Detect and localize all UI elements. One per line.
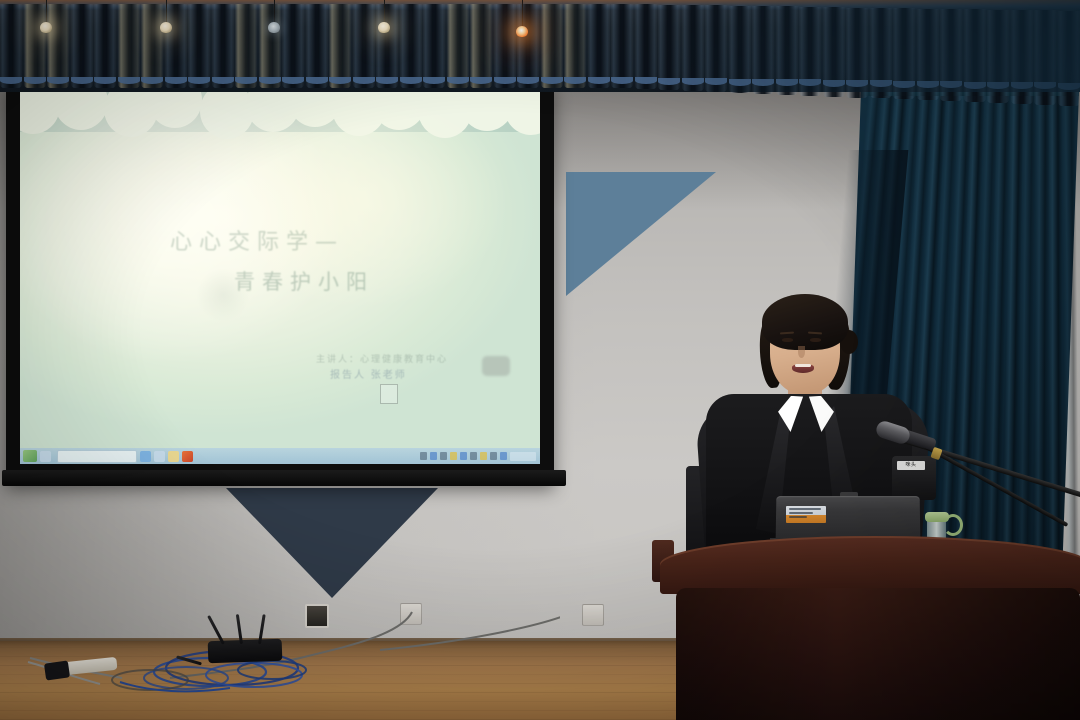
slide-placeholder-icon	[380, 384, 398, 404]
task-view-icon[interactable]	[40, 451, 51, 462]
valance-pleat-tip	[564, 77, 586, 84]
eye-right	[810, 338, 821, 342]
pendant-bulb-2	[160, 22, 172, 33]
valance-pleat	[212, 4, 234, 88]
valance-pleat	[165, 4, 187, 88]
valance-pleat-tip	[212, 77, 234, 84]
valance-pleat	[470, 4, 492, 88]
valance-pleat-tip	[24, 77, 46, 84]
pendant-bulb-4	[378, 22, 390, 33]
valance-pleat-tip	[400, 77, 422, 84]
valance-pleat-tip	[353, 77, 375, 84]
valance-pleat	[400, 4, 422, 88]
valance-pleat-tip	[118, 77, 140, 84]
pendant-bulb-1	[40, 22, 52, 33]
valance-pleat	[0, 4, 22, 88]
valance-pleat	[94, 4, 116, 88]
valance-pleat-tip	[541, 77, 563, 84]
valance-pleat	[188, 4, 210, 88]
scallop-bite	[148, 90, 202, 128]
pendant-bulb-2-wire	[166, 0, 167, 24]
teeth	[795, 364, 811, 367]
asset-tag-sticker	[786, 506, 826, 523]
valance-pleat-tip	[329, 77, 351, 84]
valance-pleat-tip	[94, 77, 116, 84]
pendant-bulb-4-wire	[384, 0, 385, 24]
lectern-top	[660, 536, 1080, 594]
search-box[interactable]	[57, 450, 137, 463]
valance-pleat	[447, 4, 469, 88]
tray-icon[interactable]	[470, 452, 477, 460]
tray-icon[interactable]	[480, 452, 487, 460]
valance-pleat-tip	[235, 77, 257, 84]
microphone-label: 咪头	[897, 461, 925, 470]
valance-pleat	[329, 4, 351, 88]
nose	[798, 346, 805, 358]
scallop-bite	[54, 90, 108, 130]
valance-shadow-band	[20, 90, 540, 132]
lectern-shading	[676, 588, 1080, 720]
valance-pleat-tip	[47, 77, 69, 84]
valance-pleat-tip	[71, 77, 93, 84]
valance-pleat-tip	[470, 77, 492, 84]
valance-pleat	[611, 4, 633, 88]
eye-left	[782, 338, 793, 342]
sticker-text-line	[789, 516, 807, 518]
valance-pleat	[588, 4, 610, 88]
tray-icon[interactable]	[420, 452, 427, 460]
lecture-hall-photo: 心心交际学— 青春护小阳 主讲人：心理健康教育中心 报告人 张老师	[0, 0, 1080, 720]
projection-screen[interactable]: 心心交际学— 青春护小阳 主讲人：心理健康教育中心 报告人 张老师	[20, 90, 540, 464]
valance-pleat-tip	[588, 77, 610, 84]
valance-pleat-tip	[141, 77, 163, 84]
system-tray[interactable]	[420, 452, 540, 461]
pendant-bulb-1-wire	[46, 0, 47, 24]
valance-right-shadow	[660, 0, 1080, 92]
pendant-bulb-5-wire	[522, 0, 523, 28]
slide-byline: 主讲人：心理健康教育中心	[316, 352, 448, 365]
valance-pleat	[423, 4, 445, 88]
folder-icon[interactable]	[168, 451, 179, 462]
valance-pleat-tip	[282, 77, 304, 84]
valance-pleat-tip	[423, 77, 445, 84]
sticker-text-line	[789, 512, 813, 514]
slide-byline-secondary: 报告人 张老师	[330, 366, 407, 381]
valance-pleat	[353, 4, 375, 88]
valance-pleat	[118, 4, 140, 88]
valance-pleat	[564, 4, 586, 88]
valance-pleat	[71, 4, 93, 88]
valance-pleat	[235, 4, 257, 88]
valance-pleat	[306, 4, 328, 88]
valance-pleat	[494, 4, 516, 88]
valance-pleat-tip	[517, 77, 539, 84]
wifi-router	[208, 639, 283, 664]
tray-icon[interactable]	[430, 452, 437, 460]
wall-triangle-lower	[226, 488, 438, 598]
valance-pleat	[24, 4, 46, 88]
taskbar-clock[interactable]	[510, 452, 536, 461]
valance-pleat-tip	[306, 77, 328, 84]
wall-socket-right	[582, 604, 604, 626]
valance-pleat-tip	[188, 77, 210, 84]
explorer-icon[interactable]	[154, 451, 165, 462]
valance-pleat	[635, 4, 657, 89]
tray-icon[interactable]	[450, 452, 457, 460]
windows-taskbar[interactable]	[20, 448, 540, 464]
wall-triangle-upper	[566, 172, 716, 296]
projector-lens-flare	[482, 356, 510, 376]
sticker-text-line	[789, 508, 821, 510]
scallop-bite	[504, 90, 540, 135]
valance-pleat	[47, 4, 69, 88]
tray-icon[interactable]	[460, 452, 467, 460]
valance-pleat	[282, 4, 304, 88]
valance-pleat-tip	[259, 77, 281, 84]
pendant-bulb-3	[268, 22, 280, 33]
valance-pleat-tip	[447, 77, 469, 84]
phone-charger-block	[44, 660, 70, 680]
valance-pleat	[376, 4, 398, 88]
tray-icon[interactable]	[500, 452, 507, 460]
tray-icon[interactable]	[490, 452, 497, 460]
water-bottle-cap	[925, 512, 949, 522]
valance-pleat	[141, 4, 163, 88]
firefox-icon[interactable]	[182, 451, 193, 462]
valance-pleat-tip	[494, 77, 516, 84]
tray-icon[interactable]	[440, 452, 447, 460]
slide-title: 心心交际学—	[170, 224, 344, 256]
hair-top	[762, 294, 848, 350]
pendant-bulb-3-wire	[274, 0, 275, 24]
valance-pleat	[517, 4, 539, 88]
valance-pleat	[541, 4, 563, 88]
projection-screen-bottom-bar	[2, 470, 566, 486]
start-button[interactable]	[23, 450, 37, 462]
valance-pleat-tip	[376, 77, 398, 84]
valance-pleat-tip	[611, 77, 633, 84]
valance-pleat-tip	[165, 77, 187, 84]
edge-browser-icon[interactable]	[140, 451, 151, 462]
pendant-bulb-5	[516, 26, 528, 37]
valance-pleat-tip	[0, 77, 22, 84]
valance-pleat	[259, 4, 281, 88]
slide-subtitle: 青春护小阳	[234, 266, 374, 296]
